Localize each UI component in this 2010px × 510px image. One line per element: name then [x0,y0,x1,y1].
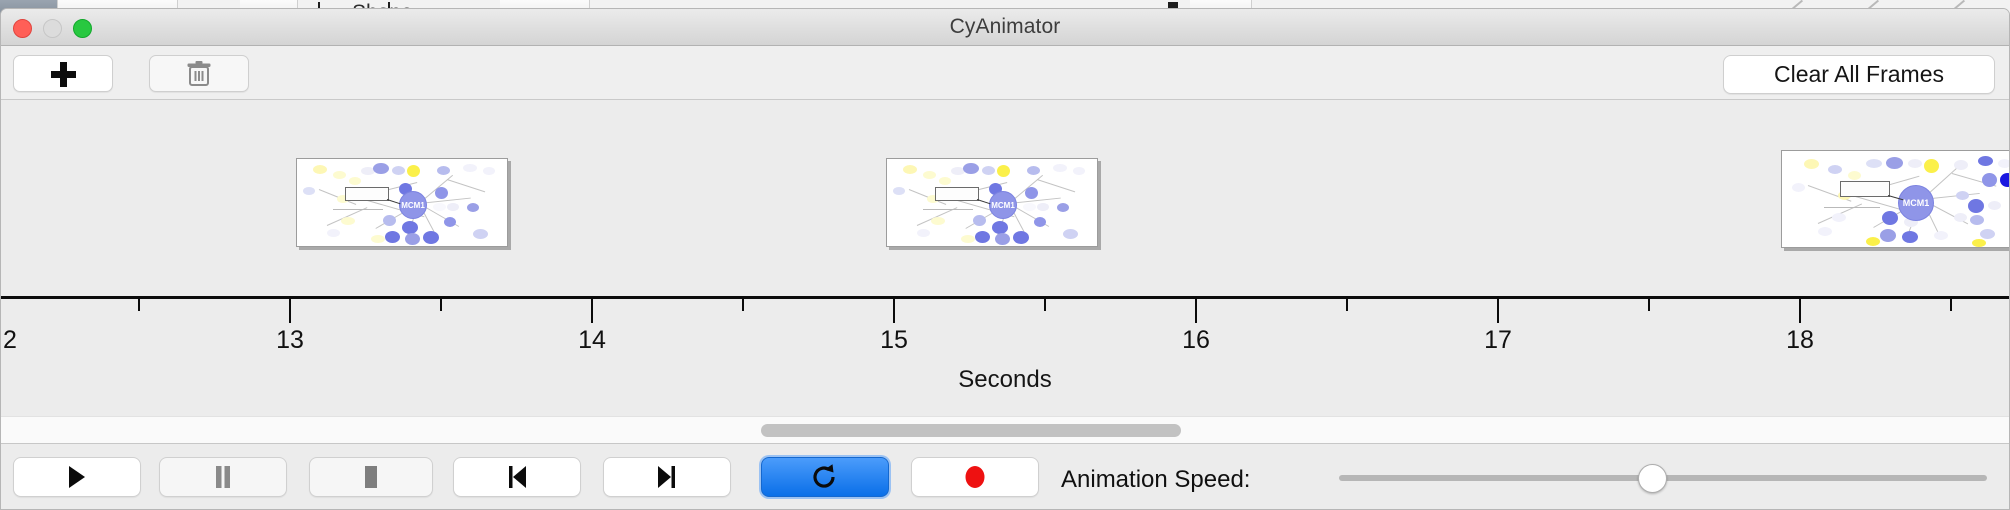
network-node [1828,165,1842,174]
network-node [433,203,446,211]
network-annotation [923,209,973,210]
network-node [383,215,396,226]
network-node [447,203,459,211]
axis-tick-minor [138,299,140,311]
network-node [1880,229,1896,242]
animation-speed-label: Animation Speed: [1061,466,1250,494]
clear-all-frames-button[interactable]: Clear All Frames [1723,55,1995,94]
axis-tick-label: 16 [1182,326,1210,355]
axis-tick-minor [440,299,442,311]
network-node [467,203,479,212]
frame-thumbnail-selected[interactable]: MCM1 [1781,150,2009,248]
network-node [1073,167,1085,175]
animation-speed-slider-thumb[interactable] [1638,464,1667,493]
axis-tick-label: 18 [1786,326,1814,355]
network-node [1908,159,1922,168]
network-node [371,235,385,243]
toolbar: Clear All Frames [1,46,2009,100]
network-node [303,187,315,195]
network-node [1978,156,1993,166]
network-node [973,215,986,226]
trash-icon [186,60,212,88]
skip-back-icon [506,465,528,489]
network-node [1866,159,1882,168]
axis-tick-minor [1648,299,1650,311]
network-node [349,177,361,185]
network-node [437,166,450,175]
network-node [341,217,355,225]
add-frame-button[interactable] [13,55,113,92]
network-node [1988,201,2001,210]
network-edge [1037,179,1075,192]
skip-forward-icon [656,465,678,489]
axis-tick-major [289,299,291,323]
network-node [992,221,1008,234]
network-node [1818,227,1832,236]
play-icon [67,465,87,489]
network-node [963,163,979,174]
network-node [483,167,495,175]
network-node [931,217,945,225]
axis-line [1,296,2009,299]
network-hub-node: MCM1 [1898,185,1934,221]
network-node [435,187,448,199]
plus-icon [49,60,77,88]
network-node [423,231,439,244]
network-hub-node: MCM1 [989,191,1017,219]
play-button[interactable] [13,457,141,497]
frames-track[interactable]: MCM1 [1,100,2009,296]
axis-tick-label: 2 [3,326,17,355]
network-callout [1840,181,1890,197]
network-node [313,165,327,174]
network-node [939,177,951,185]
pause-icon [214,465,232,489]
network-edge [447,179,485,192]
next-frame-button[interactable] [603,457,731,497]
network-node [333,171,346,179]
network-node [385,231,400,243]
network-node [1956,191,1969,200]
network-node [1972,239,1986,247]
loop-icon [812,463,838,491]
axis-tick-minor [1044,299,1046,311]
network-callout [935,187,979,201]
network-node [1886,157,1903,169]
network-node [982,166,995,175]
network-node [961,235,975,243]
network-callout [345,187,389,201]
network-node [917,229,930,237]
loop-button[interactable] [761,457,889,497]
axis-tick-major [1799,299,1801,323]
axis-tick-minor [1346,299,1348,311]
network-node [1025,187,1038,199]
network-node [407,165,420,177]
network-node [405,233,420,245]
axis-tick-major [591,299,593,323]
network-node [392,166,405,175]
network-node [995,233,1010,245]
network-node [893,187,905,195]
axis-tick-major [893,299,895,323]
network-node [1970,215,1984,225]
network-node [1027,166,1040,175]
network-node [975,231,990,243]
network-node [1954,160,1968,170]
network-node [1023,203,1036,211]
network-node [1934,231,1948,240]
network-hub-node: MCM1 [399,191,427,219]
record-button[interactable] [911,457,1039,497]
network-node [1063,229,1078,239]
stop-button[interactable] [309,457,433,497]
network-node [1982,173,1997,187]
scrollbar-thumb[interactable] [761,424,1181,437]
network-node [923,171,936,179]
network-node [444,217,456,227]
pause-button[interactable] [159,457,287,497]
cyanimator-window: CyAnimator Clear All Fr [0,8,2010,510]
network-node [1902,231,1918,243]
axis-tick-major [1497,299,1499,323]
network-node [1037,203,1049,211]
axis-title: Seconds [1,366,2009,394]
record-icon [963,465,987,489]
network-node [1053,164,1067,172]
window-title: CyAnimator [1,15,2009,39]
network-node [1968,199,1984,213]
network-node [1954,213,1967,222]
transport-bar: Animation Speed: [1,444,2009,510]
network-node [1866,237,1880,246]
previous-frame-button[interactable] [453,457,581,497]
network-node [1057,203,1069,212]
network-node [1998,159,2009,168]
network-node [1792,183,1805,192]
timeline-scrollbar[interactable] [1,416,2009,444]
network-preview: MCM1 [887,159,1097,246]
network-annotation [333,209,383,210]
axis-tick-label: 14 [578,326,606,355]
network-node [1980,229,1995,239]
network-node [1924,159,1939,173]
stop-icon [361,465,381,489]
network-node [1882,211,1898,225]
network-node [2000,173,2009,187]
network-node [903,165,917,174]
axis-tick-label: 13 [276,326,304,355]
network-node [402,221,418,234]
network-node [327,229,340,237]
network-node [1034,217,1046,227]
axis-tick-minor [742,299,744,311]
axis-tick-label: 15 [880,326,908,355]
network-node [463,164,477,172]
network-node [1804,159,1819,169]
window-titlebar: CyAnimator [1,9,2009,46]
axis-tick-major [1195,299,1197,323]
axis-tick-minor [1950,299,1952,311]
network-node [1848,171,1861,180]
screen: Shape CyAnimator [0,0,2010,510]
network-preview: MCM1 [1782,151,2009,247]
network-node [997,165,1010,177]
frame-thumbnail[interactable]: MCM1 [296,158,508,247]
network-annotation [1824,207,1880,208]
network-node [473,229,488,239]
network-node [1832,213,1846,222]
timeline-axis[interactable]: 2 13 14 15 16 17 18 Seconds [1,296,2009,416]
frame-thumbnail[interactable]: MCM1 [886,158,1098,247]
network-preview: MCM1 [297,159,507,246]
delete-frame-button[interactable] [149,55,249,92]
network-node [1013,231,1029,244]
network-node [373,163,389,174]
axis-tick-label: 17 [1484,326,1512,355]
